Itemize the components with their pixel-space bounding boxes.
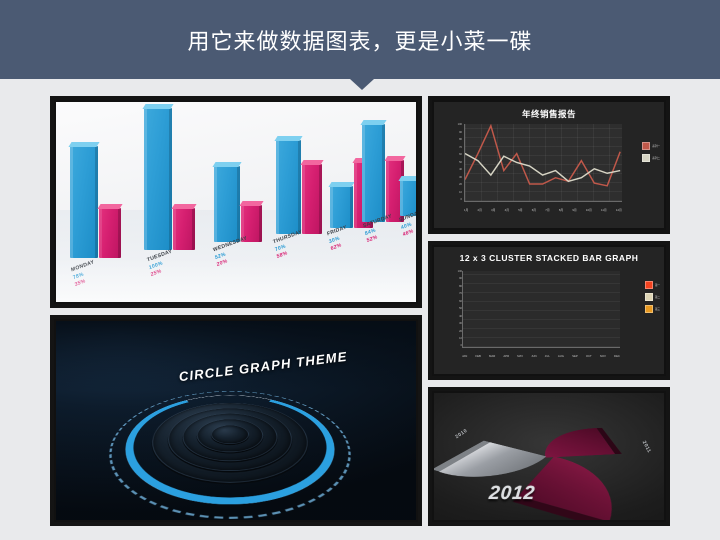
x-tick: MAR bbox=[489, 354, 495, 364]
x-tick: JAN bbox=[462, 354, 467, 364]
y-tick: 10 bbox=[459, 192, 462, 195]
page-title: 用它来做数据图表，更是小菜一碟 bbox=[187, 24, 532, 56]
chevron-down-icon bbox=[350, 79, 374, 90]
pie-slice-maroon-back bbox=[540, 428, 615, 458]
x-tick: 4月 bbox=[505, 208, 509, 218]
line-series-2 bbox=[465, 154, 620, 182]
y-tick: 90 bbox=[459, 132, 462, 135]
line-stage: 年终销售报告 100 90 80 70 60 50 40 30 20 10 0 bbox=[434, 102, 664, 228]
legend-item[interactable]: 系列一 bbox=[642, 142, 660, 150]
bar-label-4: FRIDAY 30% 62% bbox=[327, 225, 352, 254]
legend-item[interactable]: 第一 bbox=[645, 281, 660, 289]
stacked-legend: 第一 第二 第三 bbox=[645, 281, 660, 313]
line-chart-title: 年终销售报告 bbox=[434, 108, 664, 120]
legend-label: 第一 bbox=[655, 283, 660, 287]
y-tick: 80 bbox=[459, 139, 462, 142]
legend-swatch bbox=[642, 142, 650, 150]
line-plot-area bbox=[464, 124, 622, 202]
legend-label: 系列一 bbox=[652, 144, 660, 148]
x-tick: SEP bbox=[572, 354, 578, 364]
bar3d-canvas: MONDAY 78% 35% TUESDAY 100% 25% WEDNESDA… bbox=[56, 102, 416, 302]
pie-canvas: 2010 2011 2012 bbox=[434, 393, 664, 520]
x-tick: JUN bbox=[531, 354, 536, 364]
x-tick: 3月 bbox=[491, 208, 495, 218]
bar-blue bbox=[362, 124, 385, 222]
panel-circle-graph[interactable]: CIRCLE GRAPH THEME bbox=[50, 315, 422, 526]
bar-blue bbox=[400, 180, 416, 216]
bar-pink bbox=[302, 164, 322, 234]
pie-year-label: 2012 bbox=[488, 483, 536, 505]
stacked-stage: 12 x 3 CLUSTER STACKED BAR GRAPH 100 90 … bbox=[434, 247, 664, 374]
slide-header: 用它来做数据图表，更是小菜一碟 bbox=[0, 0, 720, 79]
chart-gallery: MONDAY 78% 35% TUESDAY 100% 25% WEDNESDA… bbox=[50, 96, 670, 526]
y-tick: 0 bbox=[461, 199, 462, 202]
legend-item[interactable]: 系列二 bbox=[642, 154, 660, 162]
line-series-1 bbox=[465, 126, 620, 186]
x-tick: JUL bbox=[545, 354, 550, 364]
x-tick: NOV bbox=[600, 354, 606, 364]
x-tick: APR bbox=[503, 354, 509, 364]
legend-label: 第二 bbox=[655, 295, 660, 299]
x-tick: 2月 bbox=[478, 208, 482, 218]
circle-canvas: CIRCLE GRAPH THEME bbox=[56, 321, 416, 520]
bar-pink bbox=[173, 208, 195, 250]
legend-swatch bbox=[642, 154, 650, 162]
y-tick: 40 bbox=[459, 169, 462, 172]
bar-blue bbox=[330, 186, 353, 228]
pie-label-left: 2010 bbox=[454, 428, 468, 440]
legend-swatch bbox=[645, 281, 653, 289]
bar3d-stage: MONDAY 78% 35% TUESDAY 100% 25% WEDNESDA… bbox=[56, 102, 416, 302]
stacked-canvas: 12 x 3 CLUSTER STACKED BAR GRAPH 100 90 … bbox=[434, 247, 664, 374]
y-tick: 50 bbox=[459, 162, 462, 165]
y-tick: 20 bbox=[459, 184, 462, 187]
line-legend: 系列一 系列二 bbox=[642, 142, 660, 162]
circle-stage: CIRCLE GRAPH THEME bbox=[56, 321, 416, 520]
bar-blue bbox=[276, 140, 301, 234]
x-tick: 12月 bbox=[616, 208, 622, 218]
pie-label-right: 2011 bbox=[640, 440, 651, 454]
stacked-x-axis-labels: JAN FEB MAR APR MAY JUN JUL AUG SEP OCT … bbox=[462, 354, 620, 364]
legend-swatch bbox=[645, 293, 653, 301]
stacked-chart-title: 12 x 3 CLUSTER STACKED BAR GRAPH bbox=[434, 253, 664, 263]
pie-stage: 2010 2011 2012 bbox=[434, 393, 664, 520]
legend-label: 第三 bbox=[655, 307, 660, 311]
y-tick: 30 bbox=[459, 177, 462, 180]
stacked-y-axis-labels: 100 90 80 70 60 50 40 30 20 10 0 bbox=[444, 271, 462, 348]
line-x-axis-labels: 1月 2月 3月 4月 5月 6月 7月 8月 9月 10月 11月 12月 bbox=[464, 208, 622, 218]
y-tick: 100 bbox=[458, 124, 462, 127]
circle-layer-stack bbox=[134, 404, 325, 483]
x-tick: 5月 bbox=[518, 208, 522, 218]
x-tick: 1月 bbox=[464, 208, 468, 218]
line-y-axis-labels: 100 90 80 70 60 50 40 30 20 10 0 bbox=[444, 124, 462, 202]
bar-blue bbox=[214, 166, 240, 242]
x-tick: 8月 bbox=[559, 208, 563, 218]
stacked-plot-area bbox=[462, 271, 620, 348]
bar-pink bbox=[99, 208, 121, 258]
x-tick: DEC bbox=[614, 354, 620, 364]
bar-blue bbox=[70, 146, 98, 258]
legend-item[interactable]: 第三 bbox=[645, 305, 660, 313]
x-tick: OCT bbox=[586, 354, 592, 364]
legend-label: 系列二 bbox=[652, 156, 660, 160]
x-tick: 11月 bbox=[601, 208, 607, 218]
line-canvas: 年终销售报告 100 90 80 70 60 50 40 30 20 10 0 bbox=[434, 102, 664, 228]
panel-pie-chart[interactable]: 2010 2011 2012 bbox=[428, 387, 670, 526]
legend-item[interactable]: 第二 bbox=[645, 293, 660, 301]
x-tick: 10月 bbox=[586, 208, 592, 218]
y-tick: 70 bbox=[459, 147, 462, 150]
x-tick: 6月 bbox=[532, 208, 536, 218]
x-tick: MAY bbox=[517, 354, 523, 364]
pie-assembly bbox=[455, 430, 642, 501]
x-tick: 7月 bbox=[545, 208, 549, 218]
bar-blue bbox=[144, 108, 172, 250]
legend-swatch bbox=[645, 305, 653, 313]
slide-root: 用它来做数据图表，更是小菜一碟 bbox=[0, 0, 720, 540]
x-tick: 9月 bbox=[572, 208, 576, 218]
x-tick: AUG bbox=[558, 354, 564, 364]
panel-stacked-bar-chart[interactable]: 12 x 3 CLUSTER STACKED BAR GRAPH 100 90 … bbox=[428, 241, 670, 380]
bar3d-reflection bbox=[56, 258, 416, 302]
bar-pink bbox=[241, 205, 262, 242]
y-tick: 60 bbox=[459, 154, 462, 157]
panel-line-chart[interactable]: 年终销售报告 100 90 80 70 60 50 40 30 20 10 0 bbox=[428, 96, 670, 234]
panel-bar3d-chart[interactable]: MONDAY 78% 35% TUESDAY 100% 25% WEDNESDA… bbox=[50, 96, 422, 308]
line-series-svg bbox=[465, 124, 622, 201]
x-tick: FEB bbox=[475, 354, 480, 364]
